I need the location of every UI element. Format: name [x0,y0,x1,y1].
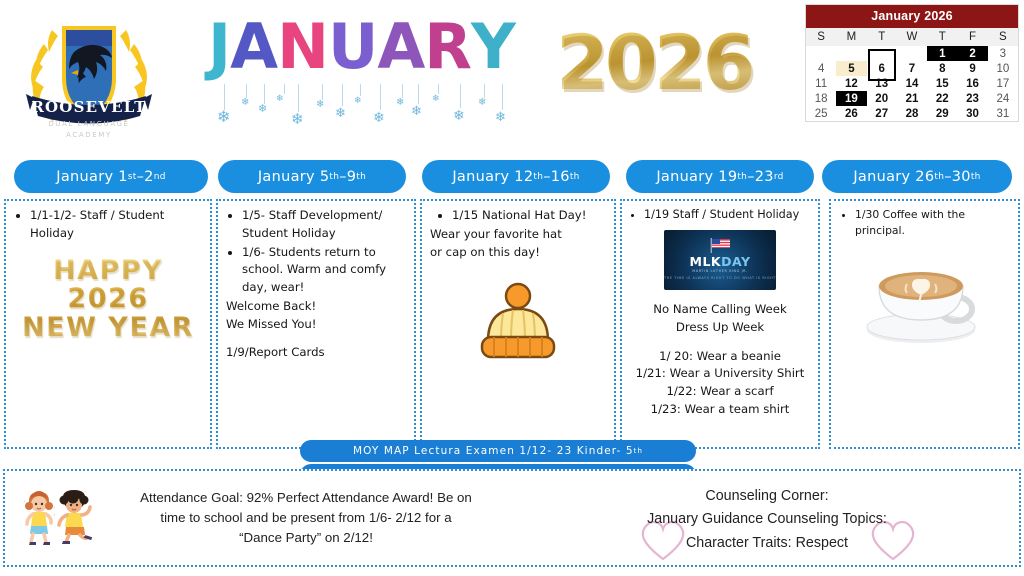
week-column-1: 1/1-1/2- Staff / Student Holiday HAPPY 2… [4,199,212,449]
mlk-day-image: MLKDAY MARTIN LUTHER KING JR. THE TIME I… [664,230,776,290]
counseling-text: Counseling Corner: January Guidance Coun… [647,485,887,554]
dress-day-item: 1/22: Wear a scarf [626,383,814,401]
usa-flag-icon [708,238,732,253]
list-item: 1/1-1/2- Staff / Student Holiday [30,207,202,243]
ordinal-suffix: th [533,172,543,182]
week-header-row: January 1st – 2nd January 5th – 9th Janu… [0,160,1024,196]
week-pill-3[interactable]: January 12th – 16th [422,160,610,193]
week-columns: 1/1-1/2- Staff / Student Holiday HAPPY 2… [0,199,1024,449]
week-pill-5[interactable]: January 26th – 30th [822,160,1012,193]
counseling-section: Counseling Corner: January Guidance Coun… [515,471,1019,565]
dress-up-week-heading: Dress Up Week [626,319,814,337]
snowflake-icon: ❄ [396,98,404,108]
balloon-line-2: 2026 [14,285,202,314]
weekday-header: S [806,28,836,46]
svg-text:♪: ♪ [53,505,56,511]
school-logo-crest: ROOSEVELT DUAL LANGUAGE ACADEMY [14,10,164,145]
ordinal-suffix: th [329,172,339,182]
week4-bullet-list: 1/19 Staff / Student Holiday [626,206,814,223]
calendar-empty-cell [897,46,927,61]
weekday-header: S [988,28,1018,46]
report-cards-text: 1/9/Report Cards [226,344,406,362]
list-item: 1/30 Coffee with the principal. [855,207,1010,240]
attendance-line-2: time to school and be present from 1/6- … [107,508,505,528]
mini-calendar-week-row: 45678910 [806,61,1018,76]
ordinal-suffix: th [971,172,981,182]
mini-calendar-week-row: 11121314151617 [806,76,1018,91]
calendar-day-cell[interactable]: 23 [957,91,987,106]
calendar-day-cell[interactable]: 28 [897,106,927,121]
calendar-day-cell[interactable]: 20 [867,91,897,106]
moy-map-label: MOY MAP Lectura Examen 1/12- 23 Kinder- … [353,445,634,457]
ordinal-suffix: th [570,172,580,182]
mini-calendar-weekday-row: S M T W T F S [806,28,1018,46]
snowflake-icon: ❄ [258,104,267,115]
calendar-day-cell[interactable]: 15 [927,76,957,91]
welcome-back-text: Welcome Back! [226,298,406,316]
calendar-day-cell[interactable]: 3 [988,46,1018,61]
header-banner: ROOSEVELT DUAL LANGUAGE ACADEMY JANUARY … [0,0,1024,152]
beanie-hat-icon [470,279,566,375]
week-pill-label: January 12 [452,169,533,185]
week-pill-label: January 5 [258,169,330,185]
calendar-day-cell[interactable]: 22 [927,91,957,106]
attendance-line-3: “Dance Party” on 2/12! [107,528,505,548]
calendar-day-cell[interactable]: 25 [806,106,836,121]
ordinal-suffix: th [356,172,366,182]
snowflake-icon: ❄ [335,106,346,119]
calendar-day-cell[interactable]: 29 [927,106,957,121]
dress-day-item: 1/23: Wear a team shirt [626,401,814,419]
snowflake-icon: ❄ [373,110,385,124]
svg-text:♪: ♪ [53,512,56,518]
dancing-kids-icon: ♪ ♪ [17,489,103,547]
calendar-day-cell[interactable]: 6 [867,61,897,76]
mini-calendar-week-row: 25262728293031 [806,106,1018,121]
calendar-day-cell[interactable]: 30 [957,106,987,121]
weekday-header: W [897,28,927,46]
calendar-day-cell[interactable]: 7 [897,61,927,76]
calendar-day-cell[interactable]: 16 [957,76,987,91]
weekday-header: T [927,28,957,46]
calendar-day-cell[interactable]: 18 [806,91,836,106]
calendar-day-cell[interactable]: 13 [867,76,897,91]
calendar-day-cell[interactable]: 24 [988,91,1018,106]
snowflake-icon: ❄ [217,110,230,126]
week2-bullet-list: 1/5- Staff Development/ Student Holiday … [226,207,406,297]
calendar-day-cell[interactable]: 31 [988,106,1018,121]
attendance-text: Attendance Goal: 92% Perfect Attendance … [103,488,515,548]
missed-you-text: We Missed You! [226,316,406,334]
mini-calendar: January 2026 S M T W T F S 1234567891011… [805,4,1019,122]
mlk-title: MLKDAY [664,254,776,269]
week-pill-label: January 19 [656,169,737,185]
snowflake-icon: ❄ [241,98,249,108]
week-pill-4[interactable]: January 19th – 23rd [626,160,814,193]
hat-day-line-1: Wear your favorite hat [430,226,606,244]
school-logo-name: ROOSEVELT [31,98,146,116]
ordinal-suffix: st [128,172,137,182]
mini-calendar-week-row: 123 [806,46,1018,61]
week-pill-end: 2 [144,169,154,185]
calendar-day-cell[interactable]: 21 [897,91,927,106]
school-logo-sub1: DUAL LANGUAGE [48,120,129,128]
balloon-line-1: HAPPY [14,257,202,286]
dash: – [543,169,551,185]
counseling-line-1: Counseling Corner: [647,485,887,508]
calendar-day-cell[interactable]: 11 [806,76,836,91]
ordinal-suffix: th [737,172,747,182]
weekday-header: M [836,28,866,46]
ordinal-suffix: nd [154,172,166,182]
weekday-header: T [867,28,897,46]
week1-bullet-list: 1/1-1/2- Staff / Student Holiday [14,207,202,243]
week-pill-end: 23 [755,169,774,185]
week-column-3: 1/15 National Hat Day! Wear your favorit… [420,199,616,449]
calendar-day-cell[interactable]: 2 [957,46,987,61]
week-column-4: 1/19 Staff / Student Holiday MLKDAY MART… [620,199,820,449]
mlk-subtitle-1: MARTIN LUTHER KING JR. [664,269,776,273]
weekday-header: F [957,28,987,46]
calendar-empty-cell [836,46,866,61]
calendar-day-cell[interactable]: 14 [897,76,927,91]
no-name-calling-heading: No Name Calling Week [626,301,814,319]
mini-calendar-table: S M T W T F S 12345678910111213141516171… [806,28,1018,121]
balloon-line-3: NEW YEAR [14,314,202,343]
list-item: 1/15 National Hat Day! [452,207,606,225]
calendar-empty-cell [806,46,836,61]
snowflake-icon: ❄ [478,98,486,108]
calendar-day-cell[interactable]: 17 [988,76,1018,91]
week5-bullet-list: 1/30 Coffee with the principal. [839,207,1010,240]
week-pill-2[interactable]: January 5th – 9th [218,160,406,193]
hat-day-line-2: or cap on this day! [430,244,606,262]
week-pill-end: 30 [952,169,971,185]
year-title: 2026 [556,18,752,107]
footer-panel: ♪ ♪ [3,469,1021,567]
list-item: 1/5- Staff Development/ Student Holiday [242,207,406,243]
snowflake-icon: ❄ [432,94,440,103]
month-title-group: JANUARY ❄ ❄ ❄ ❄ ❄ ❄ ❄ ❄ ❄ [208,6,538,146]
week-pill-end: 9 [347,169,357,185]
snowflake-icon: ❄ [411,104,422,117]
week-pill-1[interactable]: January 1st – 2nd [14,160,208,193]
week-column-5: 1/30 Coffee with the principal. [829,199,1020,449]
week-pill-label: January 1 [56,169,128,185]
snowflake-icon: ❄ [276,94,284,103]
calendar-day-cell[interactable]: 9 [957,61,987,76]
attendance-section: ♪ ♪ [5,471,515,565]
week-column-2: 1/5- Staff Development/ Student Holiday … [216,199,416,449]
coffee-cup-icon [859,254,991,350]
calendar-day-cell[interactable]: 12 [836,76,866,91]
school-logo-sub2: ACADEMY [66,131,112,139]
ordinal-suffix: rd [774,172,784,182]
snowflake-icon: ❄ [453,108,465,122]
list-item: 1/19 Staff / Student Holiday [644,206,814,223]
calendar-day-cell[interactable]: 1 [927,46,957,61]
counseling-line-2: January Guidance Counseling Topics: [647,508,887,531]
mini-calendar-title: January 2026 [806,5,1018,28]
mlk-subtitle-2: THE TIME IS ALWAYS RIGHT TO DO WHAT IS R… [664,276,776,280]
snowflake-icon: ❄ [316,100,324,110]
list-item: 1/6- Students return to school. Warm and… [242,244,406,297]
mini-calendar-body: 1234567891011121314151617181920212223242… [806,46,1018,121]
month-title: JANUARY [208,16,515,78]
dash: – [944,169,952,185]
mlk-accent-text: DAY [721,254,750,269]
week3-bullet-list: 1/15 National Hat Day! [430,207,606,225]
moy-map-banner[interactable]: MOY MAP Lectura Examen 1/12- 23 Kinder- … [300,440,696,462]
new-year-balloons-image: HAPPY 2026 NEW YEAR [14,257,202,343]
calendar-day-cell[interactable]: 5 [836,61,866,76]
ordinal-suffix: th [634,447,643,455]
calendar-day-cell[interactable]: 8 [927,61,957,76]
week-pill-end: 16 [551,169,570,185]
calendar-day-cell[interactable]: 26 [836,106,866,121]
dress-day-item: 1/ 20: Wear a beanie [626,348,814,366]
snowflake-icon: ❄ [495,110,506,123]
ordinal-suffix: th [934,172,944,182]
attendance-line-1: Attendance Goal: 92% Perfect Attendance … [107,488,505,508]
dash: – [747,169,755,185]
calendar-day-cell[interactable]: 19 [836,91,866,106]
snowflake-icon: ❄ [291,112,304,127]
dash: – [137,169,145,185]
mini-calendar-week-row: 18192021222324 [806,91,1018,106]
dash: – [339,169,347,185]
week-pill-label: January 26 [853,169,934,185]
dress-day-item: 1/21: Wear a University Shirt [626,365,814,383]
newsletter-page: ROOSEVELT DUAL LANGUAGE ACADEMY JANUARY … [0,0,1024,576]
mlk-main-text: MLK [690,254,722,269]
calendar-day-cell[interactable]: 27 [867,106,897,121]
counseling-line-3: Character Traits: Respect [647,532,887,555]
calendar-day-cell[interactable]: 10 [988,61,1018,76]
snowflake-icon-group: ❄ ❄ ❄ ❄ ❄ ❄ ❄ ❄ ❄ ❄ ❄ [212,84,532,144]
snowflake-icon: ❄ [354,96,362,105]
calendar-day-cell[interactable]: 4 [806,61,836,76]
